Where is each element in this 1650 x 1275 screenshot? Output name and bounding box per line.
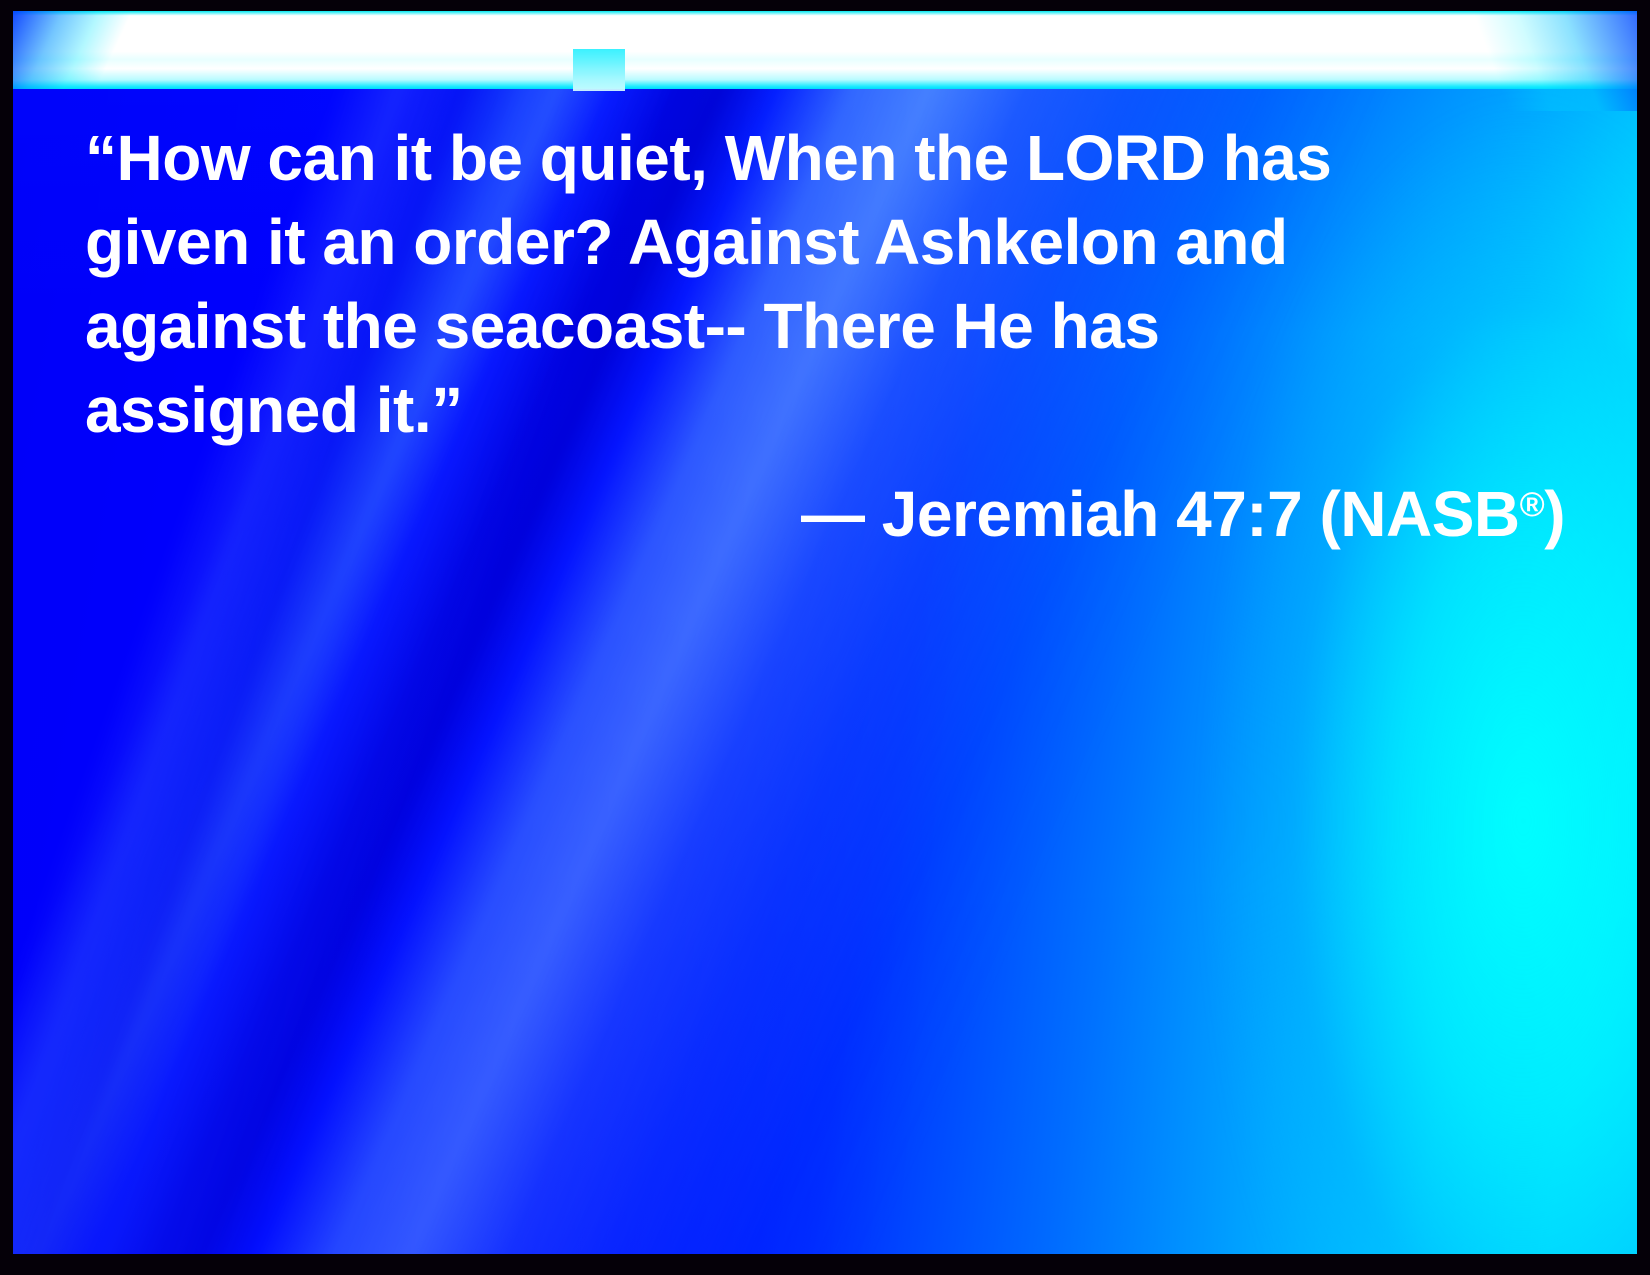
verse-line-3: against the seacoast-- There He has (85, 284, 1565, 368)
top-band-left-fade (13, 11, 143, 89)
attribution-reference: 47:7 (1176, 478, 1302, 550)
verse-line-4: assigned it.” (85, 368, 1565, 452)
attribution-translation-open: (NASB (1319, 478, 1519, 550)
registered-trademark-icon: ® (1520, 486, 1545, 524)
attribution-text-row: — Jeremiah 47:7 (NASB®) (85, 463, 1565, 556)
verse-line-2: given it an order? Against Ashkelon and (85, 200, 1565, 284)
top-highlight-band (13, 11, 1637, 89)
attribution-book: Jeremiah (882, 478, 1159, 550)
attribution-translation-close: ) (1544, 478, 1565, 550)
top-band-right-fade (1457, 11, 1637, 111)
verse-attribution: — Jeremiah 47:7 (NASB®) (85, 463, 1567, 556)
verse-line-1: “How can it be quiet, When the LORD has (85, 116, 1565, 200)
attribution-em-dash: — (801, 478, 865, 550)
verse-text-block: “How can it be quiet, When the LORD has … (85, 116, 1565, 452)
verse-slide: “How can it be quiet, When the LORD has … (0, 0, 1650, 1275)
slide-canvas: “How can it be quiet, When the LORD has … (13, 11, 1637, 1254)
top-band-notch (573, 49, 625, 91)
